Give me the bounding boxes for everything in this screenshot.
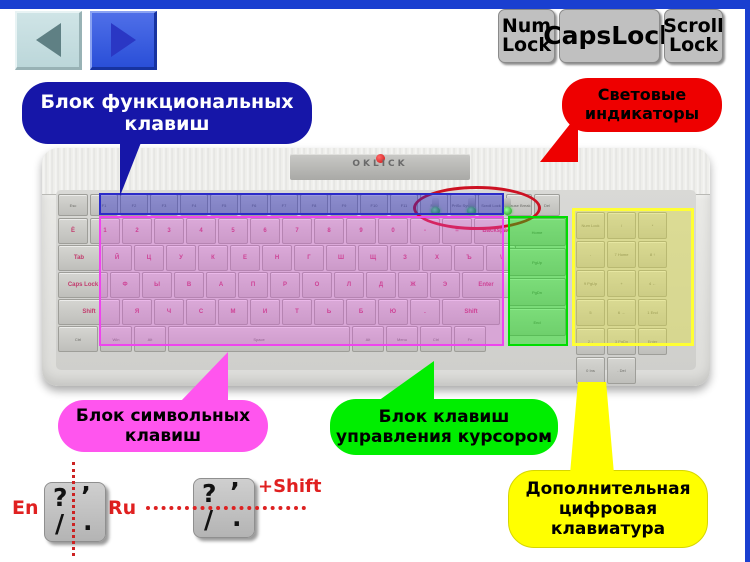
region-numeric-keypad — [572, 208, 694, 346]
legend-en-label: En — [12, 497, 39, 519]
previous-slide-button[interactable] — [15, 11, 82, 70]
legend-ru-label: Ru — [108, 497, 136, 519]
chevron-right-icon — [111, 23, 136, 57]
callout-symbol-keys: Блок символьных клавиш — [58, 400, 268, 452]
scroll-lock-line2: Lock — [669, 34, 718, 56]
keyboard-key: Esc — [58, 194, 88, 216]
legend-vertical-divider — [72, 462, 75, 556]
callout-indicators-text: Световые индикаторы — [562, 78, 722, 132]
callout-function-keys-tail — [120, 140, 164, 196]
caps-lock-key-graphic: CapsLock — [559, 9, 660, 63]
next-slide-button[interactable] — [90, 11, 157, 70]
callout-numpad: Дополнительная цифровая клавиатура — [508, 470, 708, 548]
callout-cursor-keys-text: Блок клавиш управления курсором — [330, 399, 558, 455]
callout-numpad-tail — [570, 382, 614, 474]
callout-cursor-keys: Блок клавиш управления курсором — [330, 399, 558, 455]
callout-function-keys-text: Блок функциональных клавиш — [22, 82, 312, 144]
legend-key1-bottom-left: / — [55, 509, 64, 538]
keyboard-brand-label: OKLICK — [310, 159, 450, 169]
callout-function-keys: Блок функциональных клавиш — [22, 82, 312, 144]
caps-lock-label: CapsLock — [543, 23, 676, 49]
legend-shift-label: +Shift — [258, 476, 321, 497]
keyboard-key: Ctrl — [58, 326, 98, 352]
legend-key1-top-left: ? — [53, 483, 68, 512]
region-cursor-keys — [508, 216, 568, 346]
keyboard-key: . Del — [607, 357, 636, 384]
scroll-lock-key-graphic: Scroll Lock — [664, 9, 723, 63]
keyboard-key: 0 Ins — [576, 357, 605, 384]
legend-key-enru: ? ’ / . — [44, 482, 106, 542]
callout-numpad-text: Дополнительная цифровая клавиатура — [508, 470, 708, 548]
legend-key2-top-left: ? — [202, 479, 217, 508]
chevron-left-icon — [36, 23, 61, 57]
keyboard-key: Tab — [58, 245, 100, 271]
legend-key1-bottom-right: . — [83, 507, 93, 536]
keyboard-key: Ё — [58, 218, 88, 244]
legend-horizontal-divider — [146, 506, 306, 510]
callout-indicators: Световые индикаторы — [562, 78, 722, 132]
callout-symbol-keys-text: Блок символьных клавиш — [58, 400, 268, 452]
region-function-keys — [99, 193, 504, 215]
callout-indicators-tail — [540, 114, 578, 162]
region-symbol-keys — [99, 216, 504, 346]
